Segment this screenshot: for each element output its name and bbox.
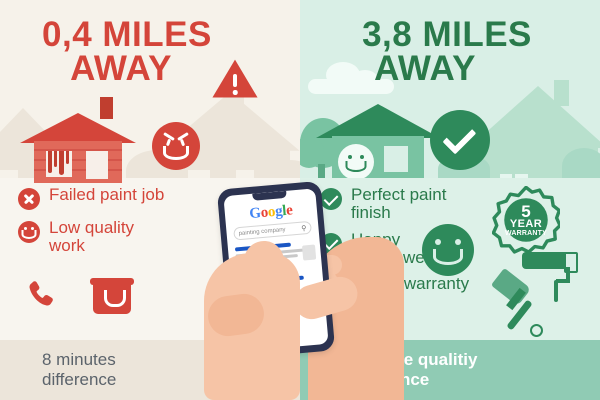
left-headline-line2: AWAY [20, 52, 250, 86]
left-hand [198, 241, 310, 400]
seal-unit: YEAR [492, 218, 560, 230]
list-item: Low quality work [18, 219, 208, 255]
list-item-label: Low quality work [49, 219, 159, 255]
good-house-icon [326, 104, 430, 182]
left-headline-line1: 0,4 MILES [20, 18, 250, 52]
phone-notch [252, 191, 286, 201]
search-input[interactable]: painting company ⚲ [233, 221, 312, 241]
angry-face-icon [152, 122, 200, 170]
smiley-face-icon [422, 224, 474, 276]
peeling-paint-window [46, 151, 72, 177]
left-headline: 0,4 MILES AWAY [20, 18, 250, 87]
hand-holding-phone: Google painting company ⚲ ★★★★★ [198, 185, 408, 400]
damaged-house-icon [28, 113, 128, 181]
phone-handset-icon [24, 278, 58, 312]
seal-word: WARRANTY [492, 230, 560, 237]
right-headline-line1: 3,8 MILES [318, 18, 568, 52]
x-mark-icon [18, 188, 40, 210]
paint-brush-icon [490, 266, 554, 330]
magnifier-icon[interactable]: ⚲ [301, 224, 307, 232]
left-footer-text: 8 minutes difference [0, 350, 192, 389]
sad-face-icon [18, 221, 40, 243]
search-input-value: painting company [238, 225, 301, 236]
infographic-canvas: Failed paint job Low quality work [0, 0, 600, 400]
right-headline-line2: AWAY [318, 52, 568, 86]
warranty-seal-badge: 5 YEAR WARRANTY [492, 186, 560, 254]
right-headline: 3,8 MILES AWAY [318, 18, 568, 87]
list-item-label: Failed paint job [49, 186, 164, 204]
paint-bucket-icon [90, 276, 134, 316]
list-item: Failed paint job [18, 186, 208, 210]
logo-letter: e [285, 202, 293, 218]
smiley-face-small-icon [338, 144, 374, 180]
left-bullet-list: Failed paint job Low quality work [18, 186, 208, 264]
check-circle-icon [430, 110, 490, 170]
